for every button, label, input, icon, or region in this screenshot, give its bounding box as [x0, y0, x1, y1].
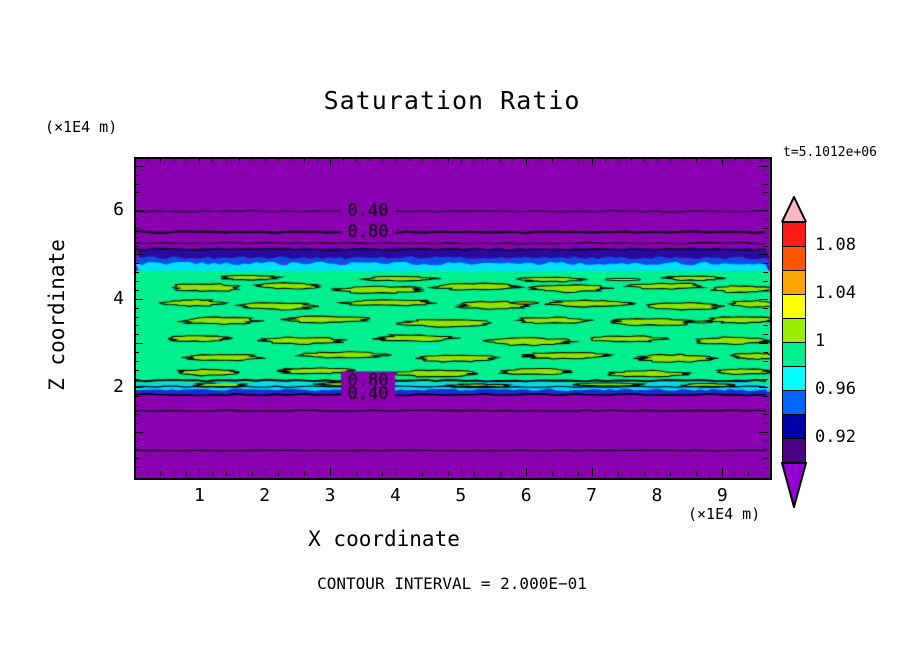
- axis-tick: [696, 471, 697, 476]
- axis-tick: [709, 157, 710, 162]
- axis-tick: [763, 325, 768, 326]
- axis-tick: [212, 157, 213, 162]
- axis-tick: [409, 471, 410, 476]
- axis-tick: [134, 175, 139, 176]
- axis-tick: [278, 471, 279, 476]
- axis-tick: [369, 157, 370, 162]
- axis-tick: [134, 272, 139, 273]
- y-axis-units-label: (×1E4 m): [45, 118, 117, 136]
- axis-tick: [592, 468, 593, 476]
- axis-tick: [763, 228, 768, 229]
- axis-tick: [226, 157, 227, 162]
- x-axis-tick-label: 1: [179, 485, 219, 506]
- axis-tick: [134, 405, 139, 406]
- colorbar-under-arrow: [779, 462, 809, 508]
- axis-tick: [763, 308, 768, 309]
- axis-tick: [134, 467, 139, 468]
- axis-tick: [461, 157, 462, 165]
- axis-tick: [763, 361, 768, 362]
- axis-tick: [134, 246, 139, 247]
- axis-tick: [343, 471, 344, 476]
- axis-tick: [759, 387, 768, 388]
- axis-tick: [763, 290, 768, 291]
- axis-tick: [330, 157, 331, 165]
- axis-tick: [722, 468, 723, 476]
- axis-tick: [763, 396, 768, 397]
- x-axis-title: X coordinate: [0, 527, 768, 551]
- colorbar-tick-label: 1: [815, 331, 825, 351]
- axis-tick: [304, 157, 305, 162]
- axis-tick: [134, 343, 143, 344]
- axis-tick: [763, 405, 768, 406]
- x-axis-units-label: (×1E4 m): [688, 505, 760, 523]
- axis-tick: [709, 471, 710, 476]
- axis-tick: [291, 157, 292, 162]
- colorbar-band[interactable]: [782, 414, 806, 440]
- axis-tick: [759, 210, 768, 211]
- axis-tick: [763, 192, 768, 193]
- axis-tick: [382, 157, 383, 162]
- axis-tick: [683, 471, 684, 476]
- axis-tick: [134, 210, 143, 211]
- axis-tick: [382, 471, 383, 476]
- axis-tick: [395, 468, 396, 476]
- colorbar-band[interactable]: [782, 318, 806, 344]
- x-axis-tick-label: 9: [702, 485, 742, 506]
- axis-tick: [134, 334, 139, 335]
- colorbar-band[interactable]: [782, 342, 806, 368]
- axis-tick: [160, 157, 161, 162]
- axis-tick: [748, 157, 749, 162]
- axis-tick: [763, 449, 768, 450]
- axis-tick: [763, 237, 768, 238]
- axis-tick: [461, 468, 462, 476]
- axis-tick: [618, 471, 619, 476]
- contour-field-canvas: [136, 159, 770, 478]
- x-axis-tick-label: 5: [441, 485, 481, 506]
- axis-tick: [134, 299, 143, 300]
- axis-tick: [265, 468, 266, 476]
- axis-tick: [578, 471, 579, 476]
- colorbar-tick-label: 1.04: [815, 283, 856, 303]
- axis-tick: [578, 157, 579, 162]
- axis-tick: [134, 219, 139, 220]
- axis-tick: [134, 192, 139, 193]
- axis-tick: [147, 471, 148, 476]
- x-axis-tick-label: 2: [245, 485, 285, 506]
- axis-tick: [657, 157, 658, 165]
- axis-tick: [644, 157, 645, 162]
- colorbar-band[interactable]: [782, 390, 806, 416]
- colorbar-over-arrow: [779, 196, 809, 222]
- colorbar-band[interactable]: [782, 366, 806, 392]
- axis-tick: [134, 361, 139, 362]
- contour-plot-area: [134, 157, 772, 480]
- axis-tick: [552, 157, 553, 162]
- axis-tick: [763, 334, 768, 335]
- axis-tick: [212, 471, 213, 476]
- colorbar-band[interactable]: [782, 270, 806, 296]
- axis-tick: [448, 157, 449, 162]
- axis-tick: [226, 471, 227, 476]
- axis-tick: [317, 471, 318, 476]
- axis-tick: [134, 352, 139, 353]
- axis-tick: [435, 157, 436, 162]
- axis-tick: [134, 396, 139, 397]
- axis-tick: [763, 175, 768, 176]
- axis-tick: [763, 201, 768, 202]
- axis-tick: [618, 157, 619, 162]
- axis-tick: [147, 157, 148, 162]
- axis-tick: [763, 370, 768, 371]
- axis-tick: [487, 471, 488, 476]
- axis-tick: [539, 471, 540, 476]
- axis-tick: [134, 281, 139, 282]
- axis-tick: [422, 157, 423, 162]
- axis-tick: [173, 471, 174, 476]
- axis-tick: [291, 471, 292, 476]
- x-axis-tick-label: 7: [572, 485, 612, 506]
- axis-tick: [330, 468, 331, 476]
- colorbar-tick-label: 1.08: [815, 235, 856, 255]
- x-axis-tick-label: 3: [310, 485, 350, 506]
- y-axis-title: Z coordinate: [45, 235, 69, 395]
- axis-tick: [683, 157, 684, 162]
- colorbar-band[interactable]: [782, 222, 806, 248]
- axis-tick: [735, 471, 736, 476]
- axis-tick: [657, 468, 658, 476]
- axis-tick: [134, 237, 139, 238]
- axis-tick: [278, 157, 279, 162]
- axis-tick: [134, 228, 139, 229]
- axis-tick: [735, 157, 736, 162]
- axis-tick: [134, 201, 139, 202]
- axis-tick: [356, 157, 357, 162]
- axis-tick: [134, 325, 139, 326]
- axis-tick: [763, 272, 768, 273]
- axis-tick: [474, 471, 475, 476]
- axis-tick: [763, 379, 768, 380]
- axis-tick: [304, 471, 305, 476]
- axis-tick: [487, 157, 488, 162]
- axis-tick: [763, 219, 768, 220]
- axis-tick: [763, 263, 768, 264]
- axis-tick: [605, 157, 606, 162]
- axis-tick: [369, 471, 370, 476]
- axis-tick: [592, 157, 593, 165]
- axis-tick: [474, 157, 475, 162]
- axis-tick: [526, 157, 527, 165]
- colorbar-band[interactable]: [782, 294, 806, 320]
- axis-tick: [134, 370, 139, 371]
- y-axis-tick-label: 4: [94, 288, 124, 309]
- axis-tick: [759, 254, 768, 255]
- axis-tick: [513, 157, 514, 162]
- axis-tick: [186, 471, 187, 476]
- axis-tick: [763, 246, 768, 247]
- axis-tick: [605, 471, 606, 476]
- axis-tick: [565, 471, 566, 476]
- axis-tick: [134, 432, 143, 433]
- axis-tick: [763, 184, 768, 185]
- axis-tick: [722, 157, 723, 165]
- axis-tick: [422, 471, 423, 476]
- axis-tick: [356, 471, 357, 476]
- axis-tick: [199, 468, 200, 476]
- axis-tick: [134, 387, 143, 388]
- axis-tick: [761, 157, 762, 162]
- axis-tick: [761, 471, 762, 476]
- axis-tick: [134, 414, 139, 415]
- colorbar-band[interactable]: [782, 438, 806, 464]
- axis-tick: [552, 471, 553, 476]
- axis-tick: [265, 157, 266, 165]
- axis-tick: [134, 441, 139, 442]
- axis-tick: [448, 471, 449, 476]
- axis-tick: [763, 458, 768, 459]
- axis-tick: [252, 157, 253, 162]
- axis-tick: [160, 471, 161, 476]
- contour-interval-note: CONTOUR INTERVAL = 2.000E−01: [0, 574, 904, 593]
- x-axis-tick-label: 6: [506, 485, 546, 506]
- axis-tick: [631, 157, 632, 162]
- axis-tick: [435, 471, 436, 476]
- axis-tick: [763, 414, 768, 415]
- timestamp-label: t=5.1012e+06: [783, 145, 877, 160]
- axis-tick: [186, 157, 187, 162]
- axis-tick: [763, 441, 768, 442]
- colorbar-tick-label: 0.92: [815, 427, 856, 447]
- axis-tick: [134, 263, 139, 264]
- axis-tick: [763, 467, 768, 468]
- axis-tick: [343, 157, 344, 162]
- axis-tick: [134, 423, 139, 424]
- axis-tick: [199, 157, 200, 165]
- axis-tick: [565, 157, 566, 162]
- axis-tick: [134, 308, 139, 309]
- colorbar-tick-label: 0.96: [815, 379, 856, 399]
- axis-tick: [539, 157, 540, 162]
- axis-tick: [759, 343, 768, 344]
- axis-tick: [500, 157, 501, 162]
- axis-tick: [696, 157, 697, 162]
- axis-tick: [134, 317, 139, 318]
- axis-tick: [134, 449, 139, 450]
- axis-tick: [134, 379, 139, 380]
- axis-tick: [670, 157, 671, 162]
- axis-tick: [759, 432, 768, 433]
- axis-tick: [134, 166, 143, 167]
- axis-tick: [173, 157, 174, 162]
- chart-title: Saturation Ratio: [0, 86, 904, 115]
- axis-tick: [134, 458, 139, 459]
- axis-tick: [644, 471, 645, 476]
- axis-tick: [317, 157, 318, 162]
- axis-tick: [526, 468, 527, 476]
- axis-tick: [134, 290, 139, 291]
- axis-tick: [134, 184, 139, 185]
- axis-tick: [409, 157, 410, 162]
- colorbar-band[interactable]: [782, 246, 806, 272]
- axis-tick: [759, 299, 768, 300]
- axis-tick: [395, 157, 396, 165]
- axis-tick: [252, 471, 253, 476]
- axis-tick: [631, 471, 632, 476]
- axis-tick: [763, 317, 768, 318]
- x-axis-tick-label: 4: [375, 485, 415, 506]
- axis-tick: [763, 352, 768, 353]
- axis-tick: [239, 471, 240, 476]
- axis-tick: [748, 471, 749, 476]
- axis-tick: [670, 471, 671, 476]
- y-axis-tick-label: 2: [94, 376, 124, 397]
- colorbar[interactable]: 1.081.0410.960.92: [779, 196, 807, 518]
- axis-tick: [763, 281, 768, 282]
- axis-tick: [759, 166, 768, 167]
- axis-tick: [513, 471, 514, 476]
- axis-tick: [763, 423, 768, 424]
- y-axis-tick-label: 6: [94, 199, 124, 220]
- axis-tick: [134, 254, 143, 255]
- axis-tick: [500, 471, 501, 476]
- axis-tick: [239, 157, 240, 162]
- x-axis-tick-label: 8: [637, 485, 677, 506]
